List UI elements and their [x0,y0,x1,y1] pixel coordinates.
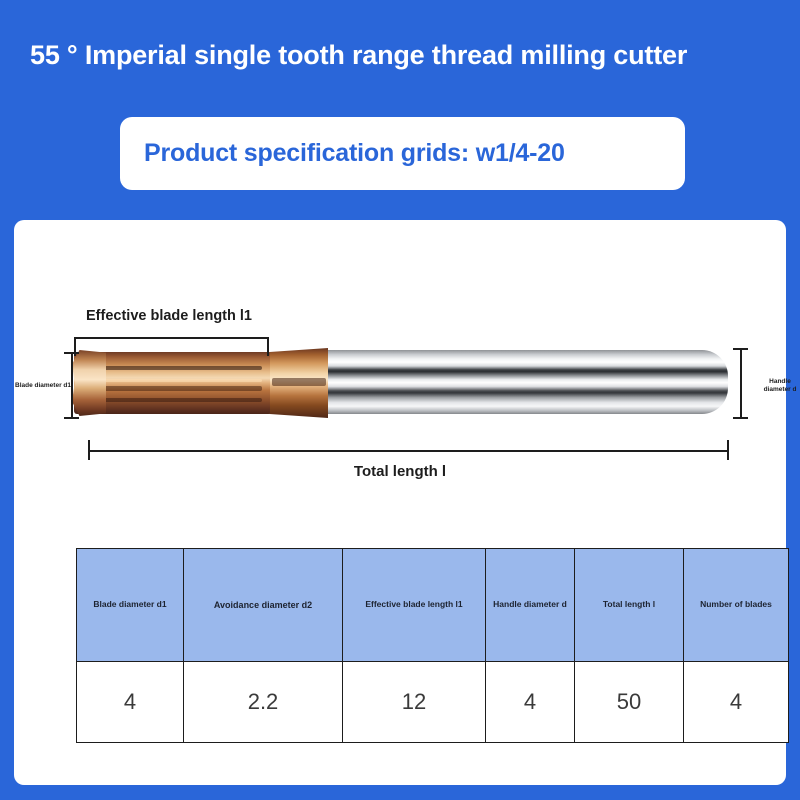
total-length-cap-right [727,440,729,460]
table-cell: 12 [343,662,486,743]
table-header-cell: Effective blade length l1 [343,549,486,662]
tool-flute [92,379,262,382]
spec-badge: Product specification grids: w1/4-20 [120,117,685,190]
tool-flute [92,386,262,391]
specification-table: Blade diameter d1 Avoidance diameter d2 … [76,548,789,743]
page-title: 55 ° Imperial single tooth range thread … [30,40,687,71]
handle-diameter-label-line1: Handle [769,378,791,385]
effective-blade-length-dimension-line [74,337,269,339]
blade-diameter-dimension-line [71,352,73,418]
blade-diameter-label: Blade diameter d1 [10,382,76,389]
table-header-row: Blade diameter d1 Avoidance diameter d2 … [77,549,789,662]
tool-flute [92,398,262,402]
table-cell: 4 [486,662,575,743]
spec-badge-label: Product specification grids: w1/4-20 [144,139,565,168]
tool-flute [92,366,262,370]
handle-diameter-cap-top [733,348,748,350]
table-header-cell: Blade diameter d1 [77,549,184,662]
total-length-dimension-line [88,450,728,452]
table-header-cell: Handle diameter d [486,549,575,662]
tool-neck-slot [272,378,326,386]
table-header-cell: Total length l [575,549,684,662]
tool-cutting-tip-illustration [72,350,106,416]
table-header-cell: Number of blades [684,549,789,662]
effective-blade-length-label: Effective blade length l1 [86,308,252,324]
tool-shank-illustration [322,350,728,414]
blade-diameter-cap-top [64,352,79,354]
handle-diameter-dimension-line [740,348,742,418]
table-cell: 4 [77,662,184,743]
effective-blade-length-cap-right [267,337,269,356]
handle-diameter-cap-bottom [733,417,748,419]
total-length-label: Total length l [0,463,800,480]
handle-diameter-label-line2: diameter d [764,386,797,393]
table-cell: 50 [575,662,684,743]
blade-diameter-cap-bottom [64,417,79,419]
table-row: 4 2.2 12 4 50 4 [77,662,789,743]
table-header-cell: Avoidance diameter d2 [184,549,343,662]
total-length-cap-left [88,440,90,460]
table-cell: 2.2 [184,662,343,743]
handle-diameter-label: Handle diameter d [760,378,800,394]
table-cell: 4 [684,662,789,743]
